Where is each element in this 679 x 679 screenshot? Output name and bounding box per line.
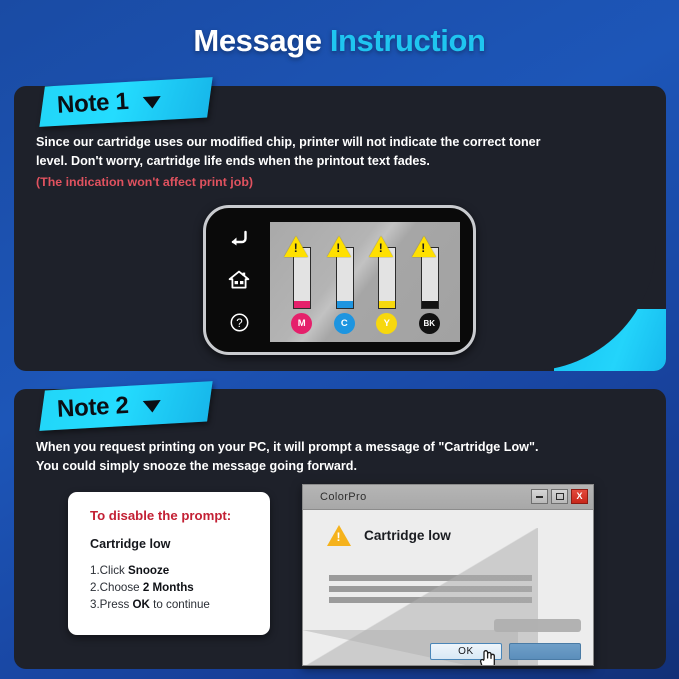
- toner-chip-yellow: Y: [376, 313, 397, 334]
- note2-line2: You could simply snooze the message goin…: [36, 457, 658, 476]
- page-title-part1: Message: [193, 23, 321, 58]
- printer-control-panel: ? MCYBK: [203, 205, 476, 355]
- disable-prompt-card: To disable the prompt: Cartridge low 1.C…: [68, 492, 270, 635]
- warning-triangle-icon: [284, 236, 308, 257]
- instruction-step: 3.Press OK to continue: [90, 597, 252, 614]
- window-controls: X: [531, 489, 588, 504]
- printer-screen: MCYBK: [270, 222, 460, 342]
- toner-level-bars: MCYBK: [280, 236, 450, 334]
- page-header: Message Instruction: [0, 0, 679, 82]
- minimize-icon: [536, 496, 543, 498]
- note1-corner-accent: [554, 309, 666, 371]
- toner-bar-magenta: M: [286, 238, 316, 334]
- instruction-step-keyword: Snooze: [128, 564, 169, 577]
- dialog-message: Cartridge low: [364, 528, 451, 543]
- message-instruction-infographic: Message Instruction Note 1 Since our car…: [0, 0, 679, 679]
- cartridge-low-dialog[interactable]: ColorPro X Cartridge low OK: [302, 484, 594, 666]
- warning-triangle-icon: [369, 236, 393, 257]
- toner-fill: [422, 301, 438, 308]
- home-icon[interactable]: [228, 270, 250, 294]
- toner-fill: [379, 301, 395, 308]
- disable-prompt-title: To disable the prompt:: [90, 508, 252, 523]
- page-title-part2: Instruction: [330, 23, 486, 58]
- note1-body-text: Since our cartridge uses our modified ch…: [36, 133, 666, 192]
- hand-cursor-icon: [479, 647, 498, 666]
- toner-chip-black: BK: [419, 313, 440, 334]
- dialog-message-row: Cartridge low: [327, 525, 451, 546]
- placeholder-bar: [329, 597, 532, 603]
- secondary-button[interactable]: [509, 643, 581, 660]
- svg-text:?: ?: [236, 318, 242, 330]
- placeholder-button: [494, 619, 581, 632]
- toner-bar-cyan: C: [329, 238, 359, 334]
- warning-triangle-icon: [412, 236, 436, 257]
- note2-body-text: When you request printing on your PC, it…: [36, 438, 658, 476]
- dialog-footer: OK: [303, 643, 593, 660]
- page-title: Message Instruction: [193, 23, 485, 59]
- printer-side-buttons: ?: [216, 220, 262, 346]
- dialog-titlebar[interactable]: ColorPro X: [303, 485, 593, 510]
- placeholder-bar: [329, 586, 532, 592]
- ok-button[interactable]: OK: [430, 643, 502, 660]
- back-arrow-icon[interactable]: [229, 229, 249, 251]
- warning-triangle-icon: [327, 236, 351, 257]
- chevron-down-icon[interactable]: [142, 400, 161, 413]
- warning-triangle-icon: [327, 525, 351, 546]
- toner-fill: [294, 301, 310, 308]
- placeholder-bar: [329, 575, 532, 581]
- note2-line1: When you request printing on your PC, it…: [36, 438, 658, 457]
- toner-fill: [337, 301, 353, 308]
- dialog-window-title: ColorPro: [320, 491, 367, 503]
- note1-disclaimer: (The indication won't affect print job): [36, 173, 666, 192]
- disable-prompt-subtitle: Cartridge low: [90, 537, 252, 551]
- note1-badge-label: Note 1: [56, 88, 129, 120]
- instruction-step: 1.Click Snooze: [90, 563, 252, 580]
- toner-bar-yellow: Y: [371, 238, 401, 334]
- ok-button-label: OK: [458, 646, 474, 657]
- maximize-icon: [556, 493, 564, 500]
- instruction-step-keyword: OK: [133, 598, 150, 611]
- note2-badge-label: Note 2: [56, 392, 129, 424]
- chevron-down-icon[interactable]: [142, 96, 161, 109]
- toner-chip-cyan: C: [334, 313, 355, 334]
- dialog-body: Cartridge low OK: [303, 510, 593, 666]
- minimize-button[interactable]: [531, 489, 548, 504]
- toner-chip-magenta: M: [291, 313, 312, 334]
- instruction-step-keyword: 2 Months: [143, 581, 194, 594]
- close-button[interactable]: X: [571, 489, 588, 504]
- close-icon: X: [576, 492, 582, 501]
- disable-prompt-steps: 1.Click Snooze2.Choose 2 Months3.Press O…: [90, 563, 252, 614]
- note1-line1: Since our cartridge uses our modified ch…: [36, 133, 666, 152]
- note1-line2: level. Don't worry, cartridge life ends …: [36, 152, 666, 171]
- help-icon[interactable]: ?: [230, 313, 249, 337]
- toner-bar-black: BK: [414, 238, 444, 334]
- maximize-button[interactable]: [551, 489, 568, 504]
- instruction-step: 2.Choose 2 Months: [90, 580, 252, 597]
